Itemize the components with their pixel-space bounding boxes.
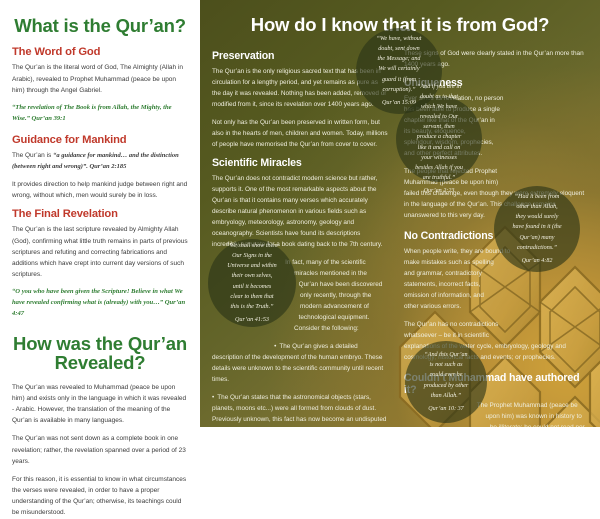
brochure-page: What is the Qur’an? The Word of God The … — [0, 0, 600, 427]
heading-guidance-for-mankind: Guidance for Mankind — [12, 134, 188, 146]
guidance-inline-ref: Qur’an 2:185 — [88, 163, 127, 170]
quote-ref-2: Qur’an 41:53 — [217, 315, 287, 325]
heading-word-of-god: The Word of God — [12, 46, 188, 58]
quote-text-5: “And this Qur’an is not such as could ev… — [414, 350, 478, 401]
bullet-embryo: •The Qur’an gives a detailed description… — [212, 341, 388, 385]
quote-circle-3-spacer — [498, 93, 590, 185]
heading-final-revelation: The Final Revelation — [12, 208, 188, 220]
paragraph-guidance-detail: It provides direction to help mankind ju… — [12, 179, 188, 201]
right-panel: How do I know that it is from God? Prese… — [200, 0, 600, 427]
paragraph-scientific-1: The Qur’an does not contradict modern sc… — [212, 173, 388, 250]
paragraph-revealed-1: The Qur’an was revealed to Muhammad (pea… — [12, 382, 188, 427]
quote-ref-5: Qur’an 10: 37 — [414, 404, 478, 414]
quote-text-3: “And if you are in doubt as to that whic… — [405, 82, 473, 183]
bullet-astronomy-text: The Qur’an states that the astronomical … — [212, 394, 386, 427]
quote-circle-quran-4-82: “Had it been from other than Allah, they… — [494, 186, 580, 272]
bullet-char-2: • — [212, 394, 214, 401]
page-title-how-revealed: How was the Qur’an Revealed? — [12, 334, 188, 373]
bullet-char-1: • — [274, 343, 276, 350]
quote-circle-quran-2-23: “And if you are in doubt as to that whic… — [396, 96, 482, 182]
quote-circle-quran-10-37: “And this Qur’an is not such as could ev… — [405, 341, 487, 423]
panel-content: How do I know that it is from God? Prese… — [200, 0, 600, 427]
bullet-astronomy: •The Qur’an states that the astronomical… — [212, 392, 388, 427]
paragraph-revealed-2: The Qur’an was not sent down as a comple… — [12, 433, 188, 467]
paragraph-word-of-god: The Qur’an is the literal word of God, T… — [12, 62, 188, 96]
bullet-embryo-text: The Qur’an gives a detailed description … — [212, 343, 383, 383]
paragraph-preservation-2: Not only has the Qur’an been preserved i… — [212, 117, 388, 150]
paragraph-guidance-intro: The Qur’an is “a guidance for mankind… a… — [12, 150, 188, 172]
guidance-pre: The Qur’an is — [12, 152, 53, 159]
left-column: What is the Qur’an? The Word of God The … — [0, 0, 200, 427]
quote-text-4: “Had it been from other than Allah, they… — [503, 192, 571, 253]
paragraph-revealed-3: For this reason, it is essential to know… — [12, 474, 188, 519]
quote-circle-quran-41-53: “We shall show them Our Signs in the Uni… — [208, 239, 296, 327]
quote-quran-39-1: “The revelation of The Book is from Alla… — [12, 103, 188, 125]
quote-quran-4-47: “O you who have been given the Scripture… — [12, 287, 188, 320]
heading-scientific-miracles: Scientific Miracles — [212, 157, 388, 169]
quote-text-2: “We shall show them Our Signs in the Uni… — [217, 241, 287, 312]
quote-ref-3: Qur’an 2:23 — [405, 186, 473, 196]
paragraph-final-revelation: The Qur’an is the last scripture reveale… — [12, 224, 188, 280]
page-title-what-is-quran: What is the Qur’an? — [12, 16, 188, 35]
quote-ref-4: Qur’an 4:82 — [503, 256, 571, 266]
